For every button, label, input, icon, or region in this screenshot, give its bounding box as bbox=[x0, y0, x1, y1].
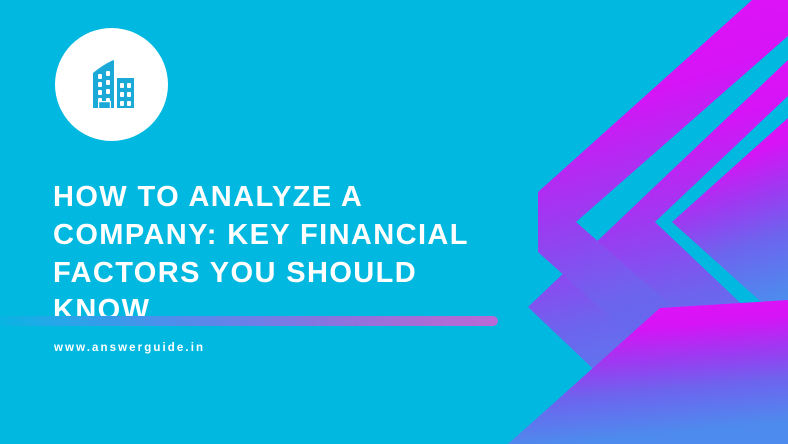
site-url: www.answerguide.in bbox=[54, 342, 205, 354]
blog-banner: HOW TO ANALYZE A COMPANY: KEY FINANCIAL … bbox=[0, 0, 788, 444]
inner-chevron bbox=[672, 118, 788, 326]
gradient-divider bbox=[0, 316, 498, 326]
logo-badge bbox=[55, 28, 168, 141]
headline-line-1: HOW TO ANALYZE A bbox=[53, 179, 553, 217]
chevron-band-outer bbox=[538, 0, 788, 444]
page-title: HOW TO ANALYZE A COMPANY: KEY FINANCIAL … bbox=[53, 179, 553, 330]
headline-line-2: COMPANY: KEY FINANCIAL bbox=[53, 217, 553, 255]
chevron-shape-back bbox=[528, 60, 788, 444]
office-buildings-icon bbox=[81, 54, 143, 116]
outer-chevron bbox=[538, 0, 788, 444]
headline-line-3: FACTORS YOU SHOULD bbox=[53, 255, 553, 293]
